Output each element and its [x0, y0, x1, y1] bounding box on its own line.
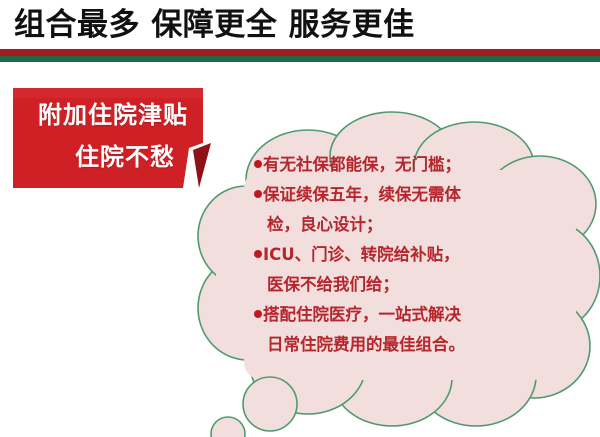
list-item-text: 搭配住院医疗，一站式解决	[263, 305, 461, 324]
bullet-dot-icon	[254, 160, 262, 168]
list-item-text: ICU、门诊、转院给补贴，	[263, 245, 460, 264]
benefits-list: 有无社保都能保，无门槛； 保证续保五年，续保无需体 检，良心设计； ICU、门诊…	[254, 150, 554, 360]
page-title: 组合最多 保障更全 服务更佳	[14, 4, 584, 46]
list-item-text: 有无社保都能保，无门槛；	[263, 155, 461, 174]
bullet-dot-icon	[254, 250, 262, 258]
divider-stripe-green	[0, 56, 600, 62]
list-item: 保证续保五年，续保无需体	[254, 180, 554, 210]
list-item-text: 医保不给我们给；	[267, 275, 399, 294]
bullet-dot-icon	[254, 310, 262, 318]
bullet-dot-icon	[254, 190, 262, 198]
list-item: ICU、门诊、转院给补贴，	[254, 240, 554, 270]
divider	[0, 49, 600, 62]
list-item-text: 日常住院费用的最佳组合。	[267, 335, 465, 354]
poster-canvas: 组合最多 保障更全 服务更佳	[0, 0, 600, 437]
list-item-text: 检，良心设计；	[267, 215, 383, 234]
divider-stripe-red	[0, 49, 600, 56]
highlight-banner: 附加住院津贴 住院不愁	[13, 88, 211, 188]
list-item-text: 保证续保五年，续保无需体	[263, 185, 461, 204]
list-item: 搭配住院医疗，一站式解决	[254, 300, 554, 330]
list-item-continuation: 医保不给我们给；	[254, 270, 554, 300]
list-item-continuation: 检，良心设计；	[254, 210, 554, 240]
highlight-banner-shape	[13, 88, 211, 188]
list-item: 有无社保都能保，无门槛；	[254, 150, 554, 180]
list-item-continuation: 日常住院费用的最佳组合。	[254, 330, 554, 360]
